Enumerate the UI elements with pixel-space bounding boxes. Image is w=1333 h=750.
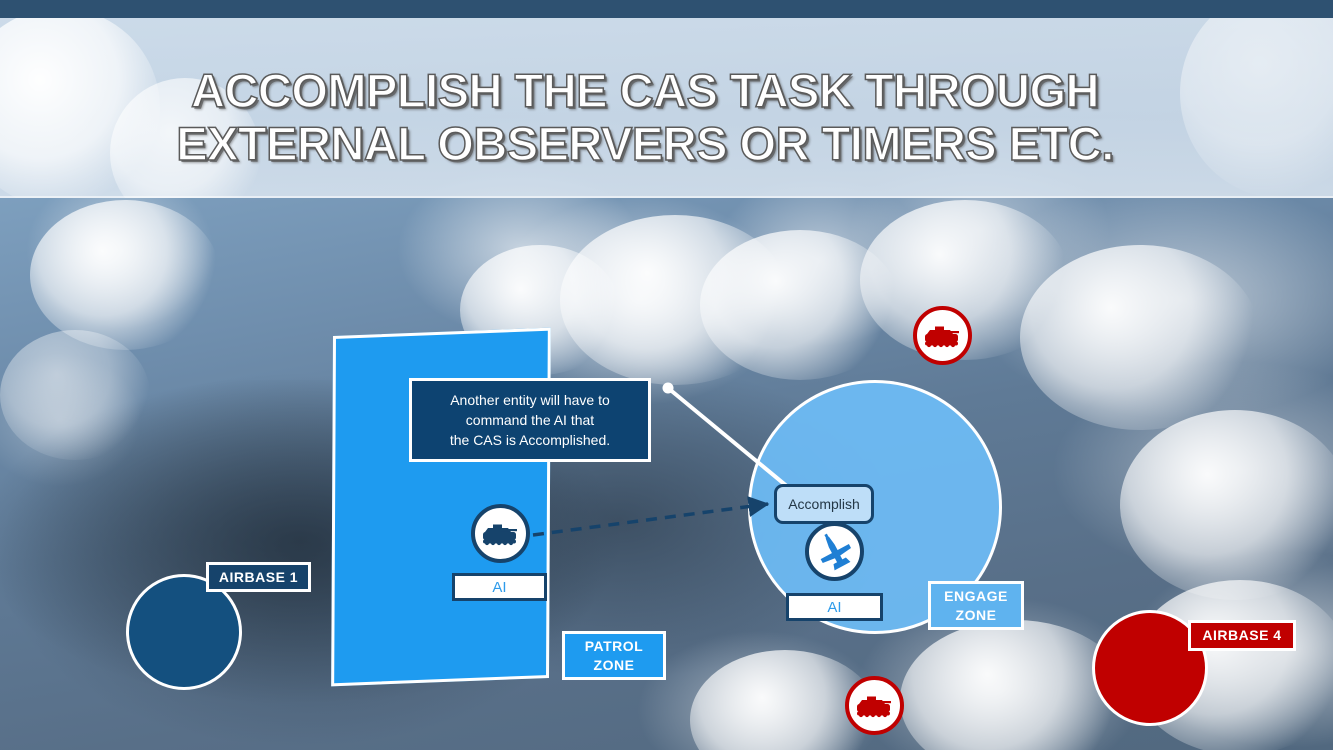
page-title: ACCOMPLISH THE CAS TASK THROUGH EXTERNAL… — [0, 64, 1290, 170]
header-band: ACCOMPLISH THE CAS TASK THROUGH EXTERNAL… — [0, 18, 1333, 198]
patrol-zone-label: PATROL ZONE — [562, 631, 666, 680]
accomplish-node[interactable]: Accomplish — [774, 484, 874, 524]
airbase-1-label: AIRBASE 1 — [206, 562, 311, 592]
hostile-tank-unit-marker[interactable] — [845, 676, 904, 735]
tank-icon — [855, 693, 895, 719]
engage-zone-label: ENGAGE ZONE — [928, 581, 1024, 630]
engage-ai-label: AI — [786, 593, 883, 621]
friendly-tank-unit-marker[interactable] — [471, 504, 530, 563]
callout-box: Another entity will have to command the … — [409, 378, 651, 462]
top-chrome-bar — [0, 0, 1333, 18]
patrol-ai-label: AI — [452, 573, 547, 601]
hostile-tank-unit-marker[interactable] — [913, 306, 972, 365]
tank-icon — [481, 521, 521, 547]
tank-icon — [923, 323, 963, 349]
header-divider — [0, 196, 1333, 198]
airbase-4-label: AIRBASE 4 — [1188, 620, 1296, 651]
jet-icon — [815, 532, 855, 572]
slide-canvas: ACCOMPLISH THE CAS TASK THROUGH EXTERNAL… — [0, 0, 1333, 750]
friendly-jet-unit-marker[interactable] — [805, 522, 864, 581]
